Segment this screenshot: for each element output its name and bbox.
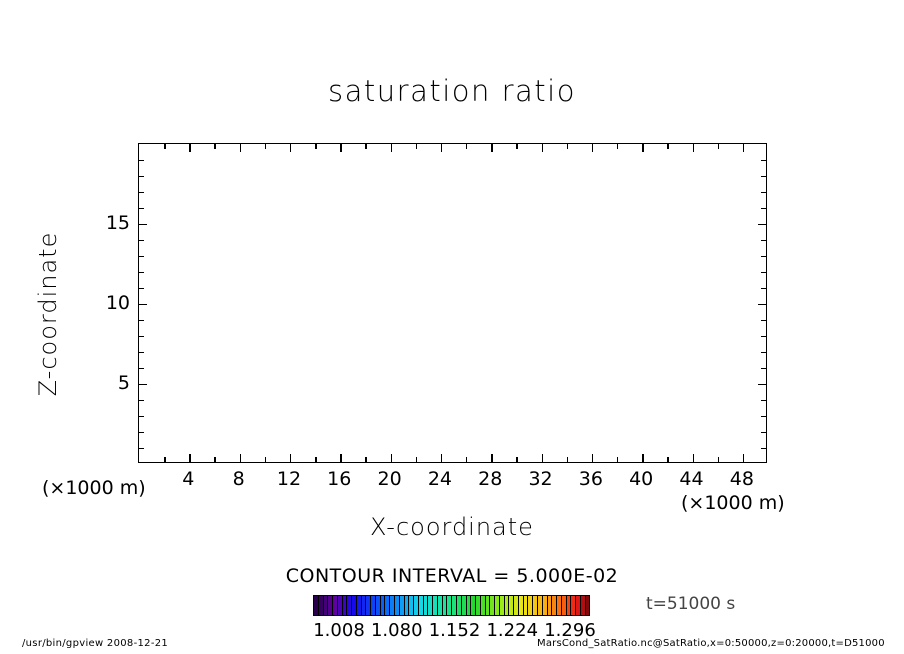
x-tick-42	[667, 457, 668, 462]
colorbar-cell-57	[586, 596, 590, 615]
x-tick-12	[290, 454, 291, 462]
x-tick-32	[542, 144, 543, 152]
y-tick-9	[761, 320, 766, 321]
x-axis-title: X-coordinate	[0, 513, 904, 541]
x-tick-24	[441, 144, 442, 152]
y-tick-3	[139, 416, 144, 417]
x-tick-2	[164, 457, 165, 462]
x-tick-48	[743, 454, 744, 462]
x-tick-34	[567, 144, 568, 149]
y-tick-8	[139, 336, 144, 337]
y-tick-5	[139, 384, 147, 385]
x-tick-30	[516, 457, 517, 462]
x-tick-22	[416, 457, 417, 462]
x-tick-48	[743, 144, 744, 152]
y-tick-6	[761, 368, 766, 369]
y-tick-12	[139, 272, 144, 273]
x-tick-12	[290, 144, 291, 152]
y-tick-16	[761, 208, 766, 209]
x-tick-14	[315, 144, 316, 149]
x-tick-38	[617, 144, 618, 149]
x-unit-left-label: (×1000 m)	[42, 477, 146, 499]
colorbar-tick-label-3: 1.224	[486, 620, 538, 641]
y-tick-7	[139, 352, 144, 353]
x-tick-label-16: 16	[327, 468, 351, 490]
y-tick-11	[761, 288, 766, 289]
x-tick-36	[592, 144, 593, 152]
y-tick-15	[139, 224, 147, 225]
x-tick-label-24: 24	[428, 468, 452, 490]
colorbar[interactable]	[313, 595, 590, 616]
x-tick-38	[617, 457, 618, 462]
x-tick-40	[642, 144, 643, 152]
y-tick-label-15: 15	[106, 212, 130, 234]
x-tick-8	[240, 454, 241, 462]
x-tick-16	[340, 454, 341, 462]
y-tick-5	[758, 384, 766, 385]
footer-dataset-label: MarsCond_SatRatio.nc@SatRatio,x=0:50000,…	[537, 638, 885, 649]
x-tick-46	[718, 144, 719, 149]
contour-plot-area[interactable]	[138, 143, 767, 463]
footer-command-label: /usr/bin/gpview 2008-12-21	[22, 638, 168, 649]
y-tick-label-10: 10	[106, 292, 130, 314]
y-tick-2	[139, 432, 144, 433]
y-axis-title: Z-coordinate	[34, 204, 62, 424]
y-tick-4	[139, 400, 144, 401]
y-tick-3	[761, 416, 766, 417]
x-tick-44	[693, 144, 694, 152]
x-tick-22	[416, 144, 417, 149]
y-tick-15	[758, 224, 766, 225]
x-tick-40	[642, 454, 643, 462]
y-tick-14	[139, 240, 144, 241]
x-tick-42	[667, 144, 668, 149]
y-tick-13	[761, 256, 766, 257]
x-tick-44	[693, 454, 694, 462]
y-tick-18	[139, 176, 144, 177]
y-tick-2	[761, 432, 766, 433]
y-tick-10	[758, 304, 766, 305]
x-tick-28	[491, 454, 492, 462]
page-title: saturation ratio	[0, 74, 904, 108]
y-tick-1	[139, 448, 144, 449]
y-tick-16	[139, 208, 144, 209]
x-tick-4	[189, 454, 190, 462]
x-tick-10	[265, 144, 266, 149]
x-tick-label-8: 8	[233, 468, 245, 490]
y-tick-8	[761, 336, 766, 337]
contour-interval-label: CONTOUR INTERVAL = 5.000E-02	[0, 565, 904, 587]
y-tick-10	[139, 304, 147, 305]
y-tick-1	[761, 448, 766, 449]
x-tick-16	[340, 144, 341, 152]
y-axis-tick-labels: 51015	[96, 143, 130, 463]
x-tick-label-40: 40	[629, 468, 653, 490]
x-tick-label-36: 36	[579, 468, 603, 490]
x-tick-26	[466, 457, 467, 462]
y-tick-17	[761, 192, 766, 193]
x-tick-label-20: 20	[378, 468, 402, 490]
y-tick-6	[139, 368, 144, 369]
x-tick-label-44: 44	[679, 468, 703, 490]
x-tick-18	[365, 144, 366, 149]
y-tick-18	[761, 176, 766, 177]
contour-field-canvas	[139, 144, 766, 462]
y-tick-19	[139, 160, 144, 161]
x-unit-right-label: (×1000 m)	[681, 492, 785, 514]
x-tick-34	[567, 457, 568, 462]
x-tick-label-4: 4	[182, 468, 194, 490]
x-tick-26	[466, 144, 467, 149]
x-tick-label-48: 48	[730, 468, 754, 490]
x-tick-2	[164, 144, 165, 149]
x-tick-8	[240, 144, 241, 152]
y-tick-14	[761, 240, 766, 241]
x-tick-18	[365, 457, 366, 462]
x-tick-20	[391, 144, 392, 152]
y-tick-11	[139, 288, 144, 289]
x-tick-10	[265, 457, 266, 462]
x-tick-24	[441, 454, 442, 462]
colorbar-tick-label-2: 1.152	[429, 620, 481, 641]
x-tick-28	[491, 144, 492, 152]
x-tick-label-28: 28	[478, 468, 502, 490]
y-tick-12	[761, 272, 766, 273]
x-tick-4	[189, 144, 190, 152]
y-tick-4	[761, 400, 766, 401]
x-tick-label-12: 12	[277, 468, 301, 490]
x-tick-label-32: 32	[528, 468, 552, 490]
x-tick-6	[214, 144, 215, 149]
x-tick-30	[516, 144, 517, 149]
colorbar-tick-label-1: 1.080	[371, 620, 423, 641]
y-tick-13	[139, 256, 144, 257]
x-tick-6	[214, 457, 215, 462]
y-tick-7	[761, 352, 766, 353]
x-tick-14	[315, 457, 316, 462]
time-annotation: t=51000 s	[646, 594, 735, 614]
y-tick-19	[761, 160, 766, 161]
x-tick-32	[542, 454, 543, 462]
x-tick-36	[592, 454, 593, 462]
x-tick-46	[718, 457, 719, 462]
y-tick-label-5: 5	[118, 372, 130, 394]
x-tick-20	[391, 454, 392, 462]
y-tick-9	[139, 320, 144, 321]
y-tick-17	[139, 192, 144, 193]
colorbar-tick-label-0: 1.008	[313, 620, 365, 641]
